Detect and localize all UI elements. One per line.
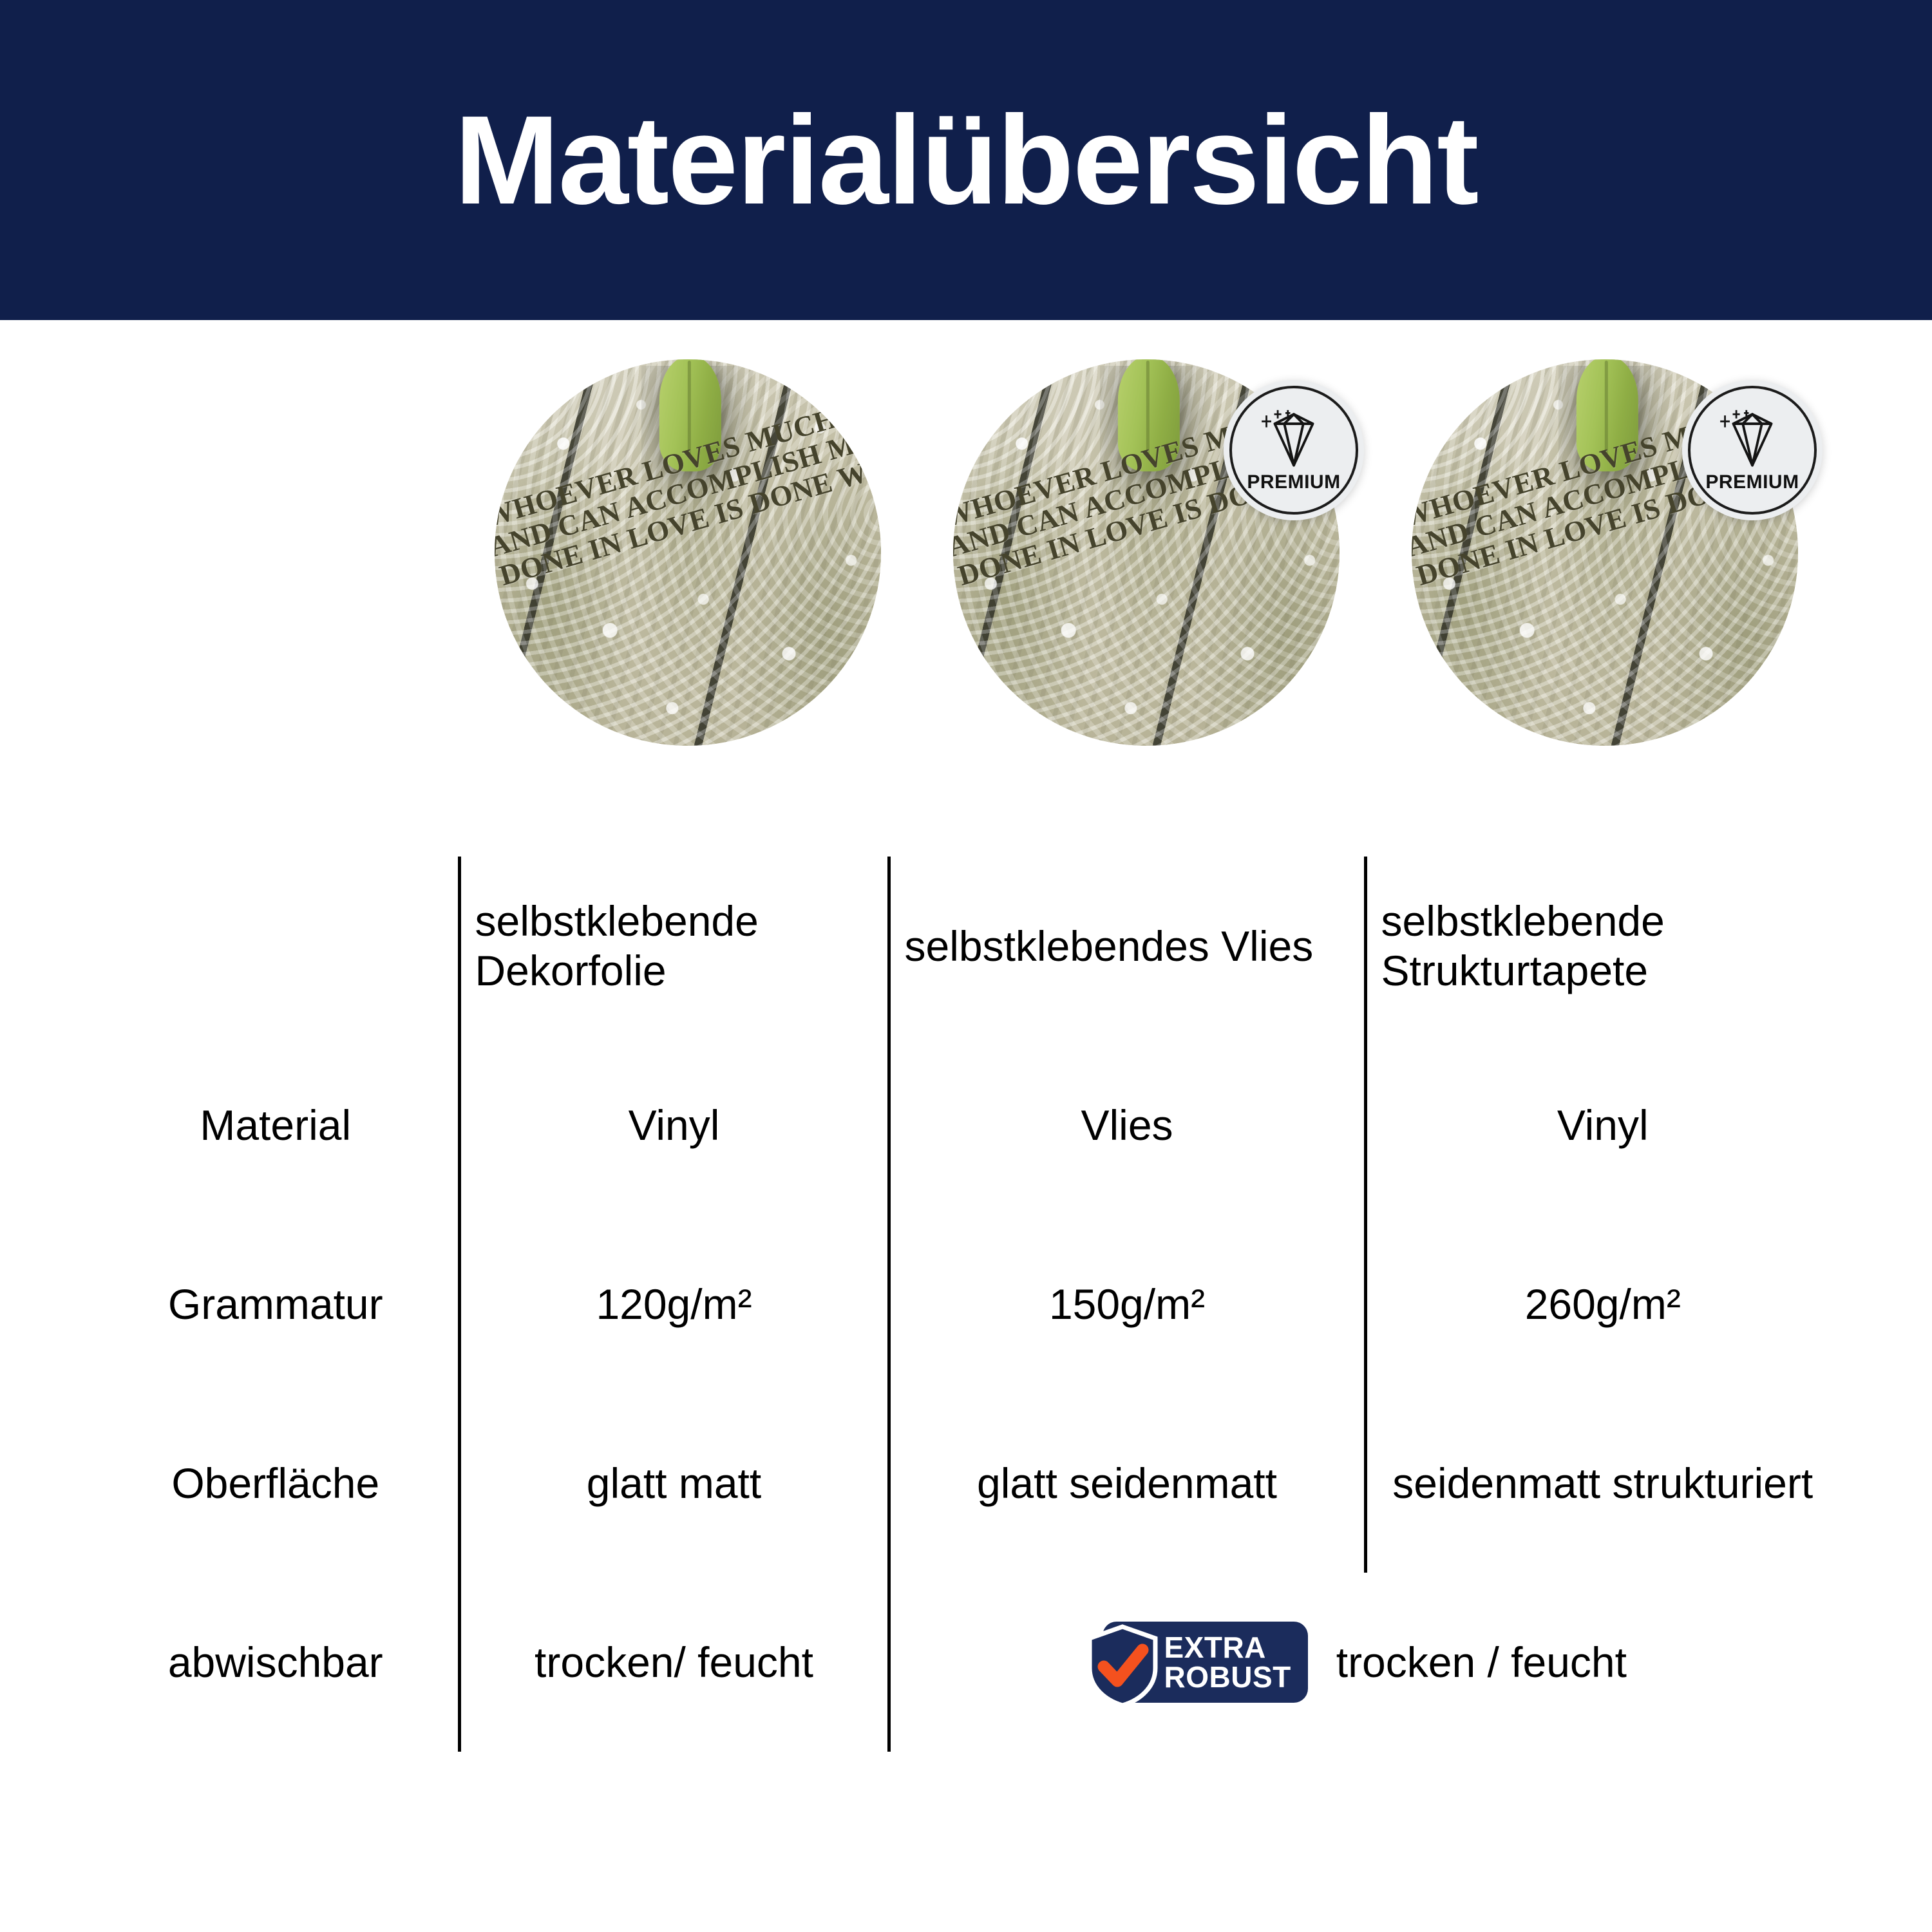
shield-check-icon	[1084, 1624, 1160, 1708]
extra-robust-badge: EXTRA ROBUST	[1103, 1622, 1308, 1703]
row-label-abwischbar: abwischbar	[93, 1573, 459, 1752]
table-header: selbstklebende Dekorfolie selbstklebende…	[93, 857, 1839, 1036]
cell-abwischbar-dekorfolie: trocken/ feucht	[459, 1573, 889, 1752]
row-label-oberflaeche: Oberfläche	[93, 1394, 459, 1573]
premium-badge-label: PREMIUM	[1705, 473, 1799, 492]
cell-grammatur-dekorfolie: 120g/m²	[459, 1215, 889, 1394]
cell-material-dekorfolie: Vinyl	[459, 1036, 889, 1215]
cell-oberflaeche-dekorfolie: glatt matt	[459, 1394, 889, 1573]
cell-oberflaeche-strukturtapete: seidenmatt strukturiert	[1365, 1394, 1839, 1573]
robust-badge-line-1: EXTRA	[1164, 1633, 1291, 1662]
row-label-material: Material	[93, 1036, 459, 1215]
premium-badge: PREMIUM	[1224, 380, 1364, 520]
cell-grammatur-strukturtapete: 260g/m²	[1365, 1215, 1839, 1394]
column-header-strukturtapete: selbstklebende Strukturtapete	[1365, 857, 1839, 1036]
table-row: Oberfläche glatt matt glatt seidenmatt s…	[93, 1394, 1839, 1573]
diamond-icon	[1258, 408, 1330, 470]
product-swatch-dekorfolie[interactable]: WHOEVER LOVES MUCH, CAN AND CAN ACCOMPLI…	[495, 359, 881, 746]
cell-abwischbar-merged-text: trocken / feucht	[1336, 1638, 1627, 1687]
diamond-icon	[1716, 408, 1788, 470]
cell-material-vlies: Vlies	[889, 1036, 1365, 1215]
column-header-dekorfolie: selbstklebende Dekorfolie	[459, 857, 889, 1036]
premium-badge: PREMIUM	[1682, 380, 1823, 520]
table-body: Material Vinyl Vlies Vinyl Grammatur 120…	[93, 1036, 1839, 1752]
product-swatch-row: WHOEVER LOVES MUCH, CAN AND CAN ACCOMPLI…	[0, 359, 1932, 759]
cell-grammatur-vlies: 150g/m²	[889, 1215, 1365, 1394]
column-header-vlies: selbstklebendes Vlies	[889, 857, 1365, 1036]
table-row: abwischbar trocken/ feucht EXTRA	[93, 1573, 1839, 1752]
row-label-grammatur: Grammatur	[93, 1215, 459, 1394]
table-corner-cell	[93, 857, 459, 1036]
robust-badge-line-2: ROBUST	[1164, 1662, 1291, 1692]
cell-abwischbar-merged: EXTRA ROBUST trocken / feucht	[889, 1573, 1839, 1752]
cell-material-strukturtapete: Vinyl	[1365, 1036, 1839, 1215]
cell-oberflaeche-vlies: glatt seidenmatt	[889, 1394, 1365, 1573]
table-row: Grammatur 120g/m² 150g/m² 260g/m²	[93, 1215, 1839, 1394]
premium-badge-label: PREMIUM	[1247, 473, 1340, 492]
page-title: Materialübersicht	[455, 97, 1478, 223]
material-overview-page: Materialübersicht WHOEVER LOVES MUCH, CA…	[0, 0, 1932, 1932]
table-header-row: selbstklebende Dekorfolie selbstklebende…	[93, 857, 1839, 1036]
page-header-banner: Materialübersicht	[0, 0, 1932, 320]
table-row: Material Vinyl Vlies Vinyl	[93, 1036, 1839, 1215]
material-comparison-table: selbstklebende Dekorfolie selbstklebende…	[93, 857, 1839, 1752]
